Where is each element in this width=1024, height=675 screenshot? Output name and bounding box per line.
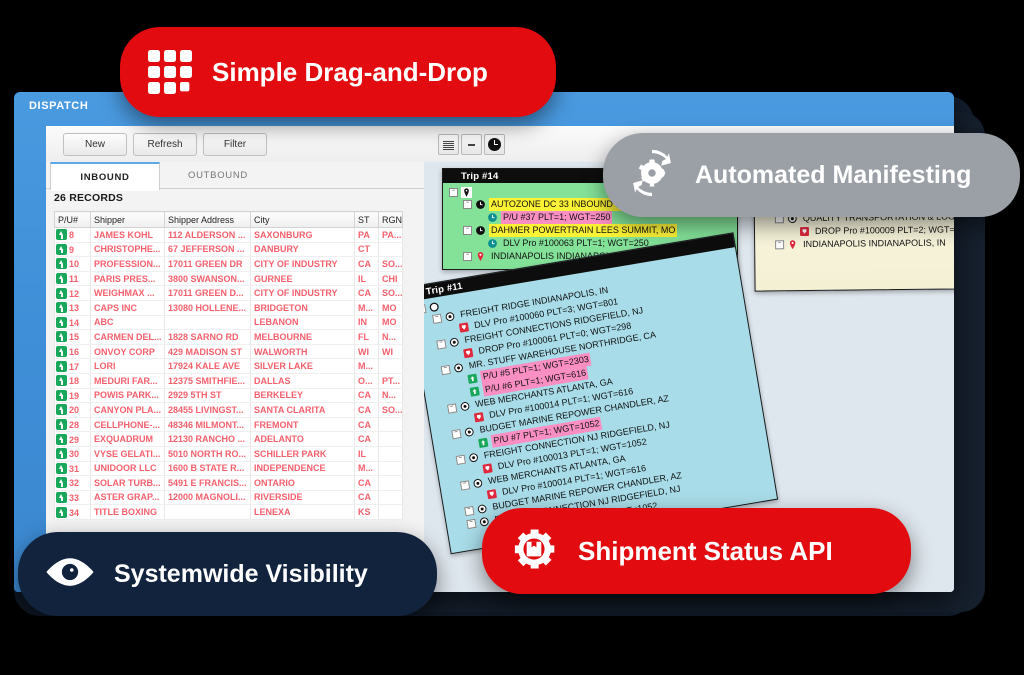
shipper-cell: CARMEN DEL...	[91, 330, 165, 345]
state-cell: CA	[355, 403, 379, 418]
shipper-address-cell	[165, 315, 251, 330]
inbound-pane: INBOUND OUTBOUND 26 RECORDS P/U#ShipperS…	[46, 162, 424, 592]
shipper-address-cell: 28455 LIVINGST...	[165, 403, 251, 418]
list-icon	[443, 140, 454, 149]
table-row[interactable]: 14ABCLEBANONINMO	[55, 315, 403, 330]
pu-number-cell: 20	[55, 403, 91, 418]
state-cell: CT	[355, 242, 379, 257]
target-icon	[459, 400, 472, 413]
shipper-cell: CAPS INC	[91, 300, 165, 315]
tree-indent-spacer	[477, 495, 487, 497]
drop-icon	[473, 411, 486, 424]
up-arrow-icon	[56, 492, 67, 503]
up-arrow-icon	[466, 372, 479, 385]
city-cell: ADELANTO	[251, 432, 355, 447]
up-arrow-icon	[56, 390, 67, 401]
up-arrow-icon	[56, 331, 67, 342]
pu-number-cell: 34	[55, 505, 91, 520]
target-icon	[448, 336, 461, 349]
new-button[interactable]: New	[63, 133, 127, 156]
city-cell: CITY OF INDUSTRY	[251, 257, 355, 272]
state-cell: M...	[355, 300, 379, 315]
trip-node-label	[443, 305, 447, 306]
shipper-cell: TITLE BOXING	[91, 505, 165, 520]
expander-icon[interactable]: −	[451, 429, 461, 439]
pill-shipment-status-api[interactable]: Shipment Status API	[482, 508, 911, 594]
column-header-3[interactable]: City	[251, 212, 355, 228]
tree-indent-spacer	[472, 469, 482, 471]
shipments-table: P/U#ShipperShipper AddressCitySTRGN 8JAM…	[54, 211, 403, 520]
state-cell: IN	[355, 315, 379, 330]
map-pin-red-icon	[787, 239, 798, 250]
table-row[interactable]: 33ASTER GRAP...12000 MAGNOLI...RIVERSIDE…	[55, 490, 403, 505]
city-cell: DANBURY	[251, 242, 355, 257]
state-cell: CA	[355, 388, 379, 403]
region-cell	[379, 505, 403, 520]
shipper-address-cell: 3800 SWANSON...	[165, 271, 251, 286]
region-cell: SO...	[379, 286, 403, 301]
table-row[interactable]: 32SOLAR TURB...5491 E FRANCIS...ONTARIOC…	[55, 476, 403, 491]
region-cell: PA...	[379, 228, 403, 243]
list-icon-button[interactable]	[438, 134, 459, 155]
table-header-row: P/U#ShipperShipper AddressCitySTRGN	[55, 212, 403, 228]
city-cell: SCHILLER PARK	[251, 446, 355, 461]
dash-icon	[468, 144, 475, 146]
up-arrow-icon	[56, 273, 67, 284]
region-cell: SO...	[379, 403, 403, 418]
region-cell	[379, 490, 403, 505]
shipper-cell: UNIDOOR LLC	[91, 461, 165, 476]
up-arrow-icon	[56, 419, 67, 430]
city-cell: SAXONBURG	[251, 228, 355, 243]
region-cell: N...	[379, 330, 403, 345]
pill-shipment-status-api-label: Shipment Status API	[578, 536, 833, 567]
city-cell: INDEPENDENCE	[251, 461, 355, 476]
up-arrow-icon	[56, 463, 67, 474]
state-cell: CA	[355, 490, 379, 505]
target-icon	[472, 477, 485, 490]
shipper-address-cell	[165, 505, 251, 520]
state-cell: KS	[355, 505, 379, 520]
shipper-address-cell: 5491 E FRANCIS...	[165, 476, 251, 491]
table-row[interactable]: 15CARMEN DEL...1828 SARNO RDMELBOURNEFLN…	[55, 330, 403, 345]
region-cell: PT...	[379, 373, 403, 388]
pu-number-cell: 30	[55, 446, 91, 461]
gear-refresh-icon	[625, 146, 679, 205]
table-row[interactable]: 20CANYON PLA...28455 LIVINGST...SANTA CL…	[55, 403, 403, 418]
expander-icon[interactable]: −	[466, 519, 476, 529]
state-cell: CA	[355, 476, 379, 491]
pu-number-cell: 29	[55, 432, 91, 447]
expander-icon[interactable]: −	[424, 304, 427, 314]
column-header-1[interactable]: Shipper	[91, 212, 165, 228]
expander-icon[interactable]: −	[463, 252, 472, 261]
shipper-cell: PROFESSION...	[91, 257, 165, 272]
table-row[interactable]: 12WEIGHMAX ...17011 GREEN D...CITY OF IN…	[55, 286, 403, 301]
up-arrow-icon	[56, 244, 67, 255]
pill-drag-and-drop-label: Simple Drag-and-Drop	[212, 57, 488, 88]
shipper-address-cell: 12130 RANCHO ...	[165, 432, 251, 447]
region-cell: CHI	[379, 271, 403, 286]
tab-inbound[interactable]: INBOUND	[50, 162, 160, 191]
table-row[interactable]: 8JAMES KOHL112 ALDERSON ...SAXONBURGPAPA…	[55, 228, 403, 243]
region-cell: SO...	[379, 257, 403, 272]
shipper-cell: CHRISTOPHE...	[91, 242, 165, 257]
expander-icon[interactable]: −	[436, 339, 446, 349]
expander-icon[interactable]: −	[775, 240, 784, 249]
expander-icon[interactable]: −	[464, 506, 474, 516]
state-cell: IL	[355, 271, 379, 286]
column-header-5[interactable]: RGN	[379, 212, 403, 228]
tree-indent-spacer	[453, 354, 463, 356]
up-arrow-icon	[56, 229, 67, 240]
city-cell: GURNEE	[251, 271, 355, 286]
clock-icon	[488, 138, 501, 151]
table-row[interactable]: 17LORI17924 KALE AVESILVER LAKEM...	[55, 359, 403, 374]
shipper-cell: LORI	[91, 359, 165, 374]
expander-icon[interactable]: −	[463, 200, 472, 209]
clock-teal-icon	[487, 238, 498, 249]
table-row[interactable]: 34TITLE BOXINGLENEXAKS	[55, 505, 403, 520]
region-cell	[379, 359, 403, 374]
region-cell	[379, 432, 403, 447]
clock-dark-icon	[475, 199, 486, 210]
filter-button[interactable]: Filter	[203, 133, 267, 156]
pu-number-cell: 18	[55, 373, 91, 388]
up-arrow-icon	[56, 317, 67, 328]
city-cell: BERKELEY	[251, 388, 355, 403]
region-cell: MO	[379, 315, 403, 330]
pu-number-cell: 11	[55, 271, 91, 286]
city-cell: MELBOURNE	[251, 330, 355, 345]
shipper-address-cell: 112 ALDERSON ...	[165, 228, 251, 243]
pu-number-cell: 12	[55, 286, 91, 301]
circle-icon	[428, 301, 441, 314]
table-row[interactable]: 18MEDURI FAR...12375 SMITHFIE...DALLASO.…	[55, 373, 403, 388]
tree-indent-spacer	[449, 328, 459, 330]
trip-node-label: P/U #37 PLT=1; WGT=250	[501, 211, 612, 224]
pu-number-cell: 19	[55, 388, 91, 403]
shipper-address-cell: 17011 GREEN DR	[165, 257, 251, 272]
city-cell: LEBANON	[251, 315, 355, 330]
city-cell: SILVER LAKE	[251, 359, 355, 374]
state-cell: M...	[355, 359, 379, 374]
up-arrow-icon	[56, 507, 67, 518]
up-arrow-icon	[56, 258, 67, 269]
expander-icon[interactable]: −	[456, 455, 466, 465]
trip-node-label: DAHMER POWERTRAIN LEES SUMMIT, MO	[489, 224, 677, 237]
expander-icon[interactable]: −	[441, 365, 451, 375]
up-arrow-icon	[56, 361, 67, 372]
pu-number-cell: 13	[55, 300, 91, 315]
up-arrow-icon	[468, 385, 481, 398]
shipper-cell: ONVOY CORP	[91, 344, 165, 359]
shipper-cell: CANYON PLA...	[91, 403, 165, 418]
column-header-0[interactable]: P/U#	[55, 212, 91, 228]
shipper-address-cell: 17924 KALE AVE	[165, 359, 251, 374]
pu-number-cell: 31	[55, 461, 91, 476]
table-body: 8JAMES KOHL112 ALDERSON ...SAXONBURGPAPA…	[55, 228, 403, 520]
shipper-address-cell: 67 JEFFERSON ...	[165, 242, 251, 257]
state-cell: CA	[355, 432, 379, 447]
pill-systemwide-visibility-label: Systemwide Visibility	[114, 560, 368, 589]
table-row[interactable]: 10PROFESSION...17011 GREEN DRCITY OF IND…	[55, 257, 403, 272]
table-row[interactable]: 29EXQUADRUM12130 RANCHO ...ADELANTOCA	[55, 432, 403, 447]
trip-card-11[interactable]: Trip #11 −−FREIGHT RIDGE INDIANAPOLIS, I…	[424, 232, 778, 554]
region-cell	[379, 417, 403, 432]
city-cell: FREMONT	[251, 417, 355, 432]
eye-icon	[44, 555, 96, 594]
shipper-cell: SOLAR TURB...	[91, 476, 165, 491]
drop-icon	[799, 226, 810, 237]
shipper-cell: CELLPHONE-...	[91, 417, 165, 432]
screenshot-stage: DISPATCH New Refresh Filter	[0, 0, 1024, 675]
city-cell: LENEXA	[251, 505, 355, 520]
shipper-cell: VYSE GELATI...	[91, 446, 165, 461]
expander-icon[interactable]: −	[463, 226, 472, 235]
state-cell: CA	[355, 417, 379, 432]
gear-box-icon	[508, 523, 560, 580]
pu-number-cell: 10	[55, 257, 91, 272]
city-cell: BRIDGETON	[251, 300, 355, 315]
map-pin-red-icon	[475, 251, 486, 262]
table-row[interactable]: 19POWIS PARK...2929 5TH STBERKELEYCAN...	[55, 388, 403, 403]
region-cell: MO	[379, 300, 403, 315]
table-row[interactable]: 28CELLPHONE-...48346 MILMONT...FREMONTCA	[55, 417, 403, 432]
shipper-address-cell: 2929 5TH ST	[165, 388, 251, 403]
trip-node-label: INDIANAPOLIS INDIANAPOLIS, IN	[801, 237, 948, 252]
pu-number-cell: 15	[55, 330, 91, 345]
trip-node[interactable]: −DAHMER POWERTRAIN LEES SUMMIT, MO	[443, 224, 737, 237]
up-arrow-icon	[56, 302, 67, 313]
tree-indent-spacer	[464, 418, 474, 420]
expander-icon[interactable]: −	[432, 314, 442, 324]
shipper-cell: WEIGHMAX ...	[91, 286, 165, 301]
shipper-address-cell: 1828 SARNO RD	[165, 330, 251, 345]
tree-indent-spacer	[459, 393, 469, 395]
state-cell: CA	[355, 257, 379, 272]
up-arrow-icon	[56, 346, 67, 357]
shipper-address-cell: 5010 NORTH RO...	[165, 446, 251, 461]
up-arrow-icon	[56, 375, 67, 386]
trip-node-label: DLV Pro #100063 PLT=1; WGT=250	[501, 237, 651, 250]
pill-drag-and-drop[interactable]: Simple Drag-and-Drop	[120, 27, 556, 117]
shipper-cell: ASTER GRAP...	[91, 490, 165, 505]
up-arrow-icon	[477, 437, 490, 450]
city-cell: CITY OF INDUSTRY	[251, 286, 355, 301]
drop-icon	[458, 321, 471, 334]
expander-icon[interactable]: −	[449, 188, 458, 197]
city-cell: ONTARIO	[251, 476, 355, 491]
shipper-address-cell: 429 MADISON ST	[165, 344, 251, 359]
table-row[interactable]: 31UNIDOOR LLC1600 B STATE R...INDEPENDEN…	[55, 461, 403, 476]
shipper-address-cell: 12000 MAGNOLI...	[165, 490, 251, 505]
up-arrow-icon	[56, 434, 67, 445]
expander-icon[interactable]: −	[447, 403, 457, 413]
pu-number-cell: 8	[55, 228, 91, 243]
tree-indent-spacer	[457, 380, 467, 382]
pu-number-cell: 28	[55, 417, 91, 432]
tab-outbound[interactable]: OUTBOUND	[164, 162, 272, 188]
drop-icon	[462, 347, 475, 360]
up-arrow-icon	[56, 477, 67, 488]
city-cell: DALLAS	[251, 373, 355, 388]
region-cell	[379, 476, 403, 491]
shipper-cell: ABC	[91, 315, 165, 330]
target-icon	[467, 451, 480, 464]
state-cell: FL	[355, 330, 379, 345]
map-pin-icon	[461, 187, 472, 198]
state-cell: IL	[355, 446, 379, 461]
table-row[interactable]: 11PARIS PRES...3800 SWANSON...GURNEEILCH…	[55, 271, 403, 286]
refresh-button[interactable]: Refresh	[133, 133, 197, 156]
state-cell: WI	[355, 344, 379, 359]
pu-number-cell: 9	[55, 242, 91, 257]
dash-icon-button[interactable]	[461, 134, 482, 155]
shipper-cell: PARIS PRES...	[91, 271, 165, 286]
shipper-address-cell: 48346 MILMONT...	[165, 417, 251, 432]
shipper-address-cell: 17011 GREEN D...	[165, 286, 251, 301]
target-icon	[463, 426, 476, 439]
trip-node-label: AUTOZONE DC 33 INBOUND DA	[489, 198, 630, 211]
table-row[interactable]: 30VYSE GELATI...5010 NORTH RO...SCHILLER…	[55, 446, 403, 461]
target-icon	[452, 362, 465, 375]
shipper-cell: EXQUADRUM	[91, 432, 165, 447]
drop-icon	[481, 462, 494, 475]
grid-icon	[148, 50, 192, 94]
shipper-cell: POWIS PARK...	[91, 388, 165, 403]
region-cell	[379, 461, 403, 476]
shipper-address-cell: 1600 B STATE R...	[165, 461, 251, 476]
up-arrow-icon	[56, 404, 67, 415]
up-arrow-icon	[56, 288, 67, 299]
tree-indent-spacer	[468, 444, 478, 446]
target-icon	[476, 503, 489, 516]
table-row[interactable]: 9CHRISTOPHE...67 JEFFERSON ...DANBURYCT	[55, 242, 403, 257]
pill-automated-manifesting-label: Automated Manifesting	[695, 161, 971, 190]
pu-number-cell: 33	[55, 490, 91, 505]
city-cell: SANTA CLARITA	[251, 403, 355, 418]
clock-icon-button[interactable]	[484, 134, 505, 155]
state-cell: O...	[355, 373, 379, 388]
page-title: DISPATCH	[29, 100, 88, 112]
trip-node[interactable]: −INDIANAPOLIS INDIANAPOLIS, IN	[755, 235, 954, 251]
region-cell	[379, 242, 403, 257]
shipper-cell: JAMES KOHL	[91, 228, 165, 243]
column-header-4[interactable]: ST	[355, 212, 379, 228]
city-cell: RIVERSIDE	[251, 490, 355, 505]
shipper-address-cell: 13080 HOLLENE...	[165, 300, 251, 315]
clock-teal-icon	[487, 212, 498, 223]
table-row[interactable]: 16ONVOY CORP429 MADISON STWALWORTHWIWI	[55, 344, 403, 359]
tab-bar: INBOUND OUTBOUND	[46, 162, 424, 189]
region-cell: N...	[379, 388, 403, 403]
drop-icon	[486, 488, 499, 501]
up-arrow-icon	[56, 448, 67, 459]
city-cell: WALWORTH	[251, 344, 355, 359]
region-cell	[379, 446, 403, 461]
state-cell: PA	[355, 228, 379, 243]
record-count: 26 RECORDS	[54, 192, 123, 204]
pu-number-cell: 32	[55, 476, 91, 491]
pu-number-cell: 17	[55, 359, 91, 374]
pu-number-cell: 14	[55, 315, 91, 330]
pu-number-cell: 16	[55, 344, 91, 359]
column-header-2[interactable]: Shipper Address	[165, 212, 251, 228]
region-cell: WI	[379, 344, 403, 359]
clock-dark-icon	[475, 225, 486, 236]
state-cell: CA	[355, 286, 379, 301]
table-row[interactable]: 13CAPS INC13080 HOLLENE...BRIDGETONM...M…	[55, 300, 403, 315]
pill-automated-manifesting[interactable]: Automated Manifesting	[603, 133, 1020, 217]
shipper-cell: MEDURI FAR...	[91, 373, 165, 388]
target-icon	[444, 310, 457, 323]
pill-systemwide-visibility[interactable]: Systemwide Visibility	[18, 532, 437, 616]
expander-icon[interactable]: −	[460, 480, 470, 490]
shipper-address-cell: 12375 SMITHFIE...	[165, 373, 251, 388]
state-cell: M...	[355, 461, 379, 476]
